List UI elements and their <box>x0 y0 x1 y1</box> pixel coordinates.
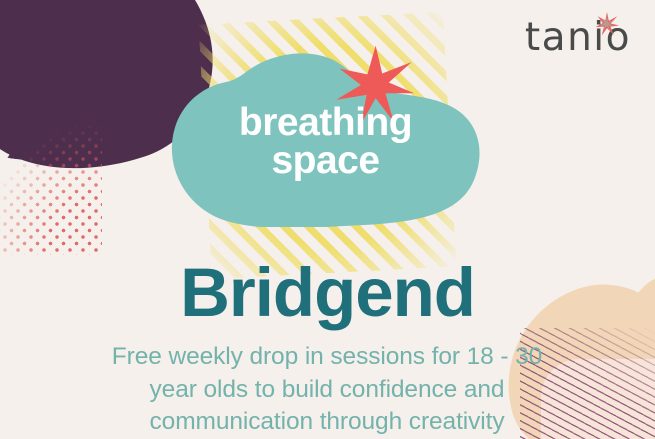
poster-canvas: tanio breathing space Bridgend Free week… <box>0 0 655 439</box>
logo-starburst-icon <box>594 11 620 37</box>
description-line-1: Free weekly drop in sessions for 18 - 30 <box>77 341 577 374</box>
description-line-3: communication through creativity <box>77 406 577 439</box>
coral-halftone-dots-pattern <box>0 120 102 255</box>
description-line-2: year olds to build confidence and <box>77 374 577 407</box>
description-text: Free weekly drop in sessions for 18 - 30… <box>77 341 577 439</box>
breathing-space-line-1: breathing <box>239 101 412 144</box>
breathing-space-line-2: space <box>168 142 483 180</box>
page-title: Bridgend <box>0 258 655 327</box>
breathing-space-title: breathing space <box>168 104 483 180</box>
